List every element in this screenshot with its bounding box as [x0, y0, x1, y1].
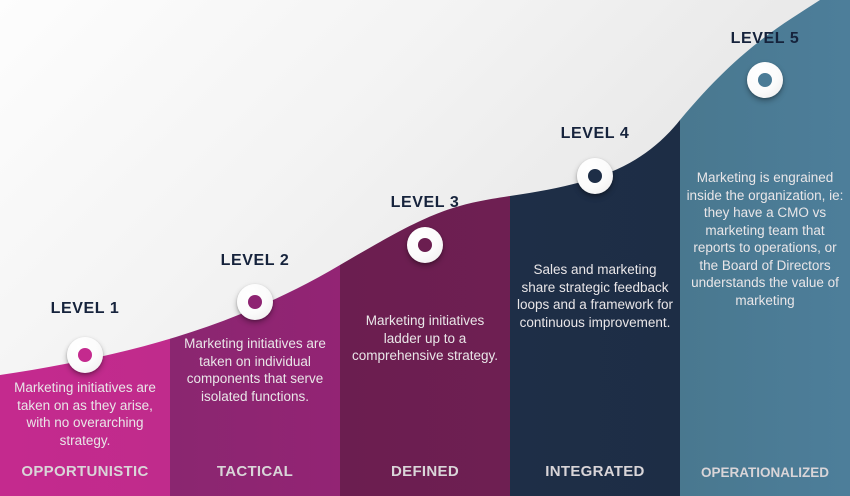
level-description-4: Sales and marketing share strategic feed…	[516, 261, 674, 331]
maturity-column-level-2[interactable]: LEVEL 2 Marketing initiatives are taken …	[170, 0, 340, 496]
circle-marker-icon-5[interactable]	[747, 62, 783, 98]
circle-marker-icon-3[interactable]	[407, 227, 443, 263]
circle-marker-icon-2[interactable]	[237, 284, 273, 320]
marker-dot-2	[248, 295, 262, 309]
marker-dot-1	[78, 348, 92, 362]
level-title-4: LEVEL 4	[510, 125, 680, 143]
level-description-3: Marketing initiatives ladder up to a com…	[346, 312, 504, 365]
maturity-column-level-1[interactable]: LEVEL 1 Marketing initiatives are taken …	[0, 0, 170, 496]
maturity-model-diagram: LEVEL 1 Marketing initiatives are taken …	[0, 0, 850, 496]
maturity-column-level-5[interactable]: LEVEL 5 Marketing is engrained inside th…	[680, 0, 850, 496]
maturity-column-level-4[interactable]: LEVEL 4 Sales and marketing share strate…	[510, 0, 680, 496]
stage-label-tactical: TACTICAL	[170, 463, 340, 480]
level-title-1: LEVEL 1	[0, 300, 170, 318]
circle-marker-icon-4[interactable]	[577, 158, 613, 194]
stage-label-defined: DEFINED	[340, 463, 510, 480]
level-title-5: LEVEL 5	[680, 30, 850, 48]
marker-dot-3	[418, 238, 432, 252]
stage-label-operationalized: OPERATIONALIZED	[680, 465, 850, 480]
level-description-2: Marketing initiatives are taken on indiv…	[176, 335, 334, 405]
marker-dot-4	[588, 169, 602, 183]
level-title-2: LEVEL 2	[170, 252, 340, 270]
level-description-1: Marketing initiatives are taken on as th…	[6, 379, 164, 449]
level-title-3: LEVEL 3	[340, 194, 510, 212]
stage-label-integrated: INTEGRATED	[510, 463, 680, 480]
level-description-5: Marketing is engrained inside the organi…	[686, 169, 844, 309]
maturity-column-level-3[interactable]: LEVEL 3 Marketing initiatives ladder up …	[340, 0, 510, 496]
circle-marker-icon-1[interactable]	[67, 337, 103, 373]
maturity-columns: LEVEL 1 Marketing initiatives are taken …	[0, 0, 850, 496]
marker-dot-5	[758, 73, 772, 87]
stage-label-opportunistic: OPPORTUNISTIC	[0, 463, 170, 480]
